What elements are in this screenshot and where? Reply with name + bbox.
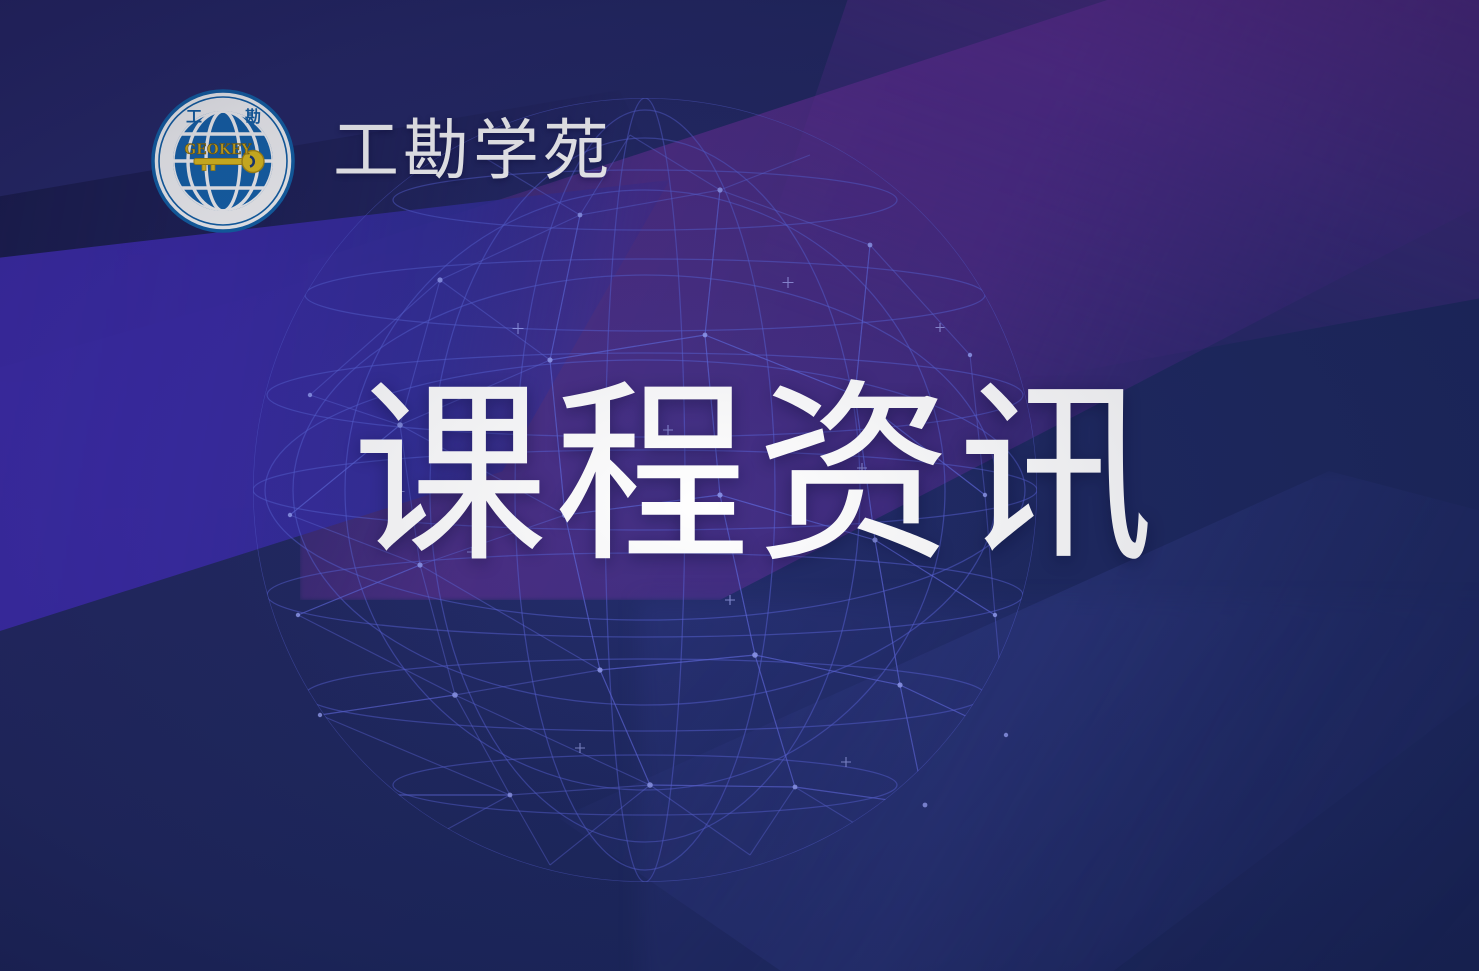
svg-text:勘: 勘 [245,107,261,126]
geokey-globe-logo-icon: GEOKEY 工 勘 [150,88,296,234]
svg-text:工: 工 [186,107,202,126]
banner-canvas: GEOKEY 工 勘 工勘学苑 课程资讯 [0,0,1479,971]
brand-name: 工勘学苑 [333,118,613,184]
svg-text:GEOKEY: GEOKEY [184,142,251,158]
page-title: 课程资讯 [352,378,1160,574]
